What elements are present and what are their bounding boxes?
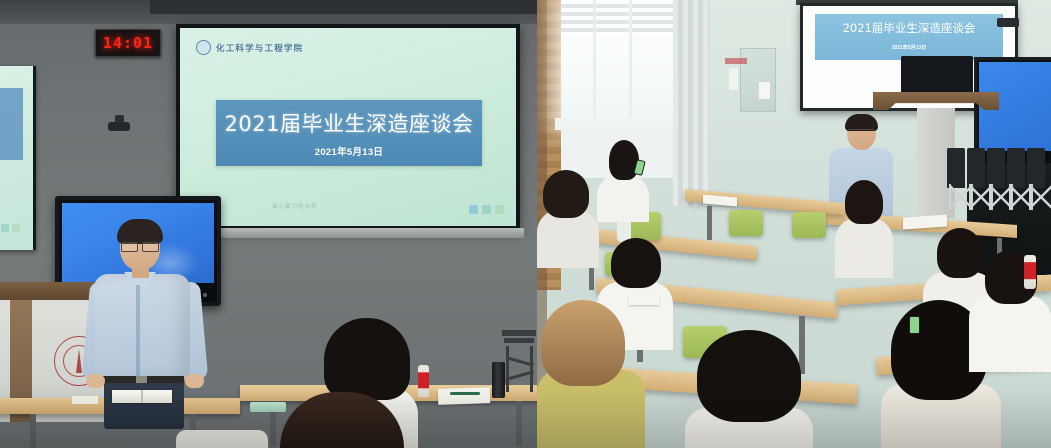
wall-digital-clock: 14:01 [95,29,161,57]
slide-title-band: 2021届毕业生深造座谈会 2021年5月13日 [216,100,482,166]
student-hair [611,238,661,288]
slide-footer: 凝心聚力创未来 [272,202,318,210]
open-notebook [112,390,172,403]
logo-seal-icon [196,40,211,55]
student-shirt [835,218,893,278]
student-foreground [537,300,645,448]
slide-accent-squares [469,205,504,214]
folding-chair-stack [947,148,1051,210]
slide-org-logo: 化工科学与工程学院 [196,40,303,55]
student-seated [537,170,599,266]
screen-bottom-rail [172,228,524,238]
student-hair [697,330,801,422]
student-hair [324,318,410,400]
secondary-slide-band [0,88,23,160]
smartphone [909,316,920,334]
window-curtain [673,0,709,206]
speaker-hair [117,219,163,244]
wall-camera-icon [108,122,130,131]
student-seated [835,180,893,276]
podium-monitor [901,56,973,94]
cabinet-notice-sign [759,82,770,99]
eyeglasses-icon [848,129,874,136]
student-shirt [597,174,649,222]
classroom-chair [792,212,826,238]
cola-bottle [1024,255,1036,289]
stacked-chairs [500,330,537,394]
window-mullion [593,0,596,124]
ceiling-speaker-icon [997,18,1019,27]
paper-sheets [629,296,659,305]
main-projection-screen: 化工科学与工程学院 2021届毕业生深造座谈会 2021年5月13日 凝心聚力创… [176,24,520,230]
window-blinds [561,0,673,34]
paper-sheet [438,387,491,405]
slide-org-name: 化工科学与工程学院 [216,42,303,54]
student-shirt [969,296,1051,372]
student-seated [597,140,649,218]
cola-bottle [418,365,429,397]
red-wall-label [725,58,747,64]
student-shirt [537,210,599,268]
student-shoulder [176,430,268,448]
secondary-slide-squares [0,219,28,228]
left-photo: 14:01 化工科学与工程学院 2021届毕业生深造座谈会 2021年5月13日… [0,0,537,448]
slide-title: 2021届毕业生深造座谈会 [815,20,1003,36]
speaker-shirt [94,274,190,380]
student-hair [845,180,883,224]
slide-date: 2021年5月13日 [815,44,1003,51]
student-seated [969,250,1051,370]
ceiling-recess [150,0,537,14]
slide-date: 2021年5月13日 [216,144,482,158]
student-foreground [280,392,404,448]
student-hair [541,300,625,386]
shirt-placket [136,276,140,376]
pen [450,392,480,395]
slide-title-band: 2021届毕业生深造座谈会 2021年5月13日 [815,14,1003,60]
wall-notice [729,68,738,90]
photo-composite: 14:01 化工科学与工程学院 2021届毕业生深造座谈会 2021年5月13日… [0,0,1051,448]
slide-title: 2021届毕业生深造座谈会 [216,108,482,138]
paper-sheet [72,396,98,404]
student-foreground [685,330,813,448]
right-photo: 2021届毕业生深造座谈会 2021年5月13日 [537,0,1051,448]
speaker-hand-left [86,374,105,388]
desk-leg [707,206,712,240]
classroom-chair [729,210,763,236]
student-hair [280,392,404,448]
clock-time: 14:01 [103,34,153,52]
secondary-projection-screen [0,66,36,250]
eyeglasses-icon [121,242,159,250]
student-hair [543,170,589,218]
window-mullion [629,0,632,124]
speaker-hand-right [185,374,204,388]
